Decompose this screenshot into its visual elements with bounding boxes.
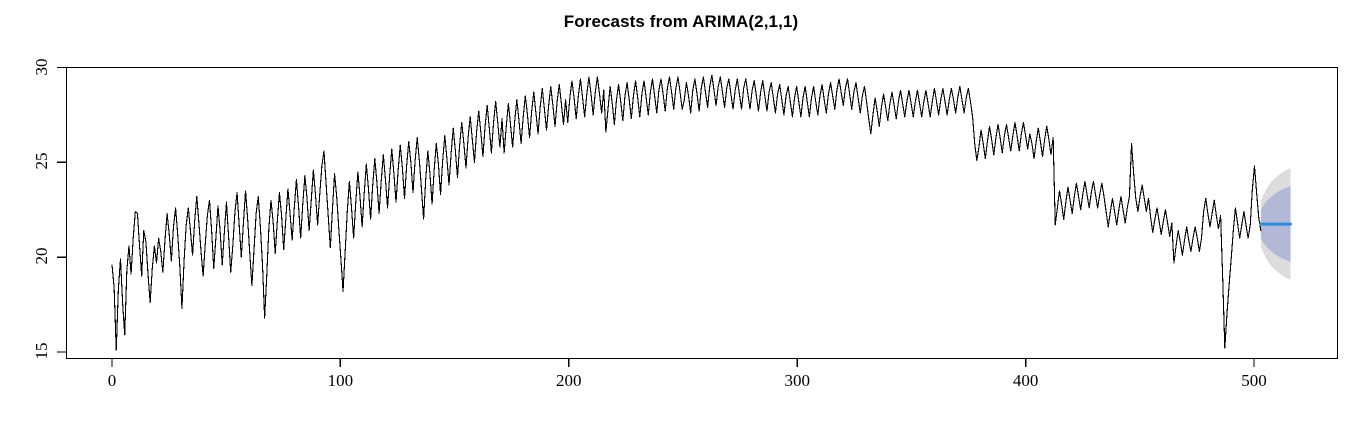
plot-frame bbox=[67, 68, 1338, 359]
plot-canvas bbox=[0, 0, 1362, 438]
x-tick-label: 200 bbox=[529, 371, 609, 391]
y-tick-label: 20 bbox=[32, 241, 52, 271]
x-tick-label: 100 bbox=[300, 371, 380, 391]
x-tick-label: 300 bbox=[757, 371, 837, 391]
y-tick-label: 15 bbox=[32, 336, 52, 366]
x-tick-label: 500 bbox=[1214, 371, 1294, 391]
forecast-plot-root: Forecasts from ARIMA(2,1,1) 152025300100… bbox=[0, 0, 1362, 438]
x-tick-label: 400 bbox=[986, 371, 1066, 391]
history-line bbox=[112, 75, 1261, 350]
y-tick-label: 25 bbox=[32, 146, 52, 176]
y-tick-label: 30 bbox=[32, 52, 52, 82]
x-tick-label: 0 bbox=[72, 371, 152, 391]
plot-generated-layer bbox=[57, 68, 1338, 368]
